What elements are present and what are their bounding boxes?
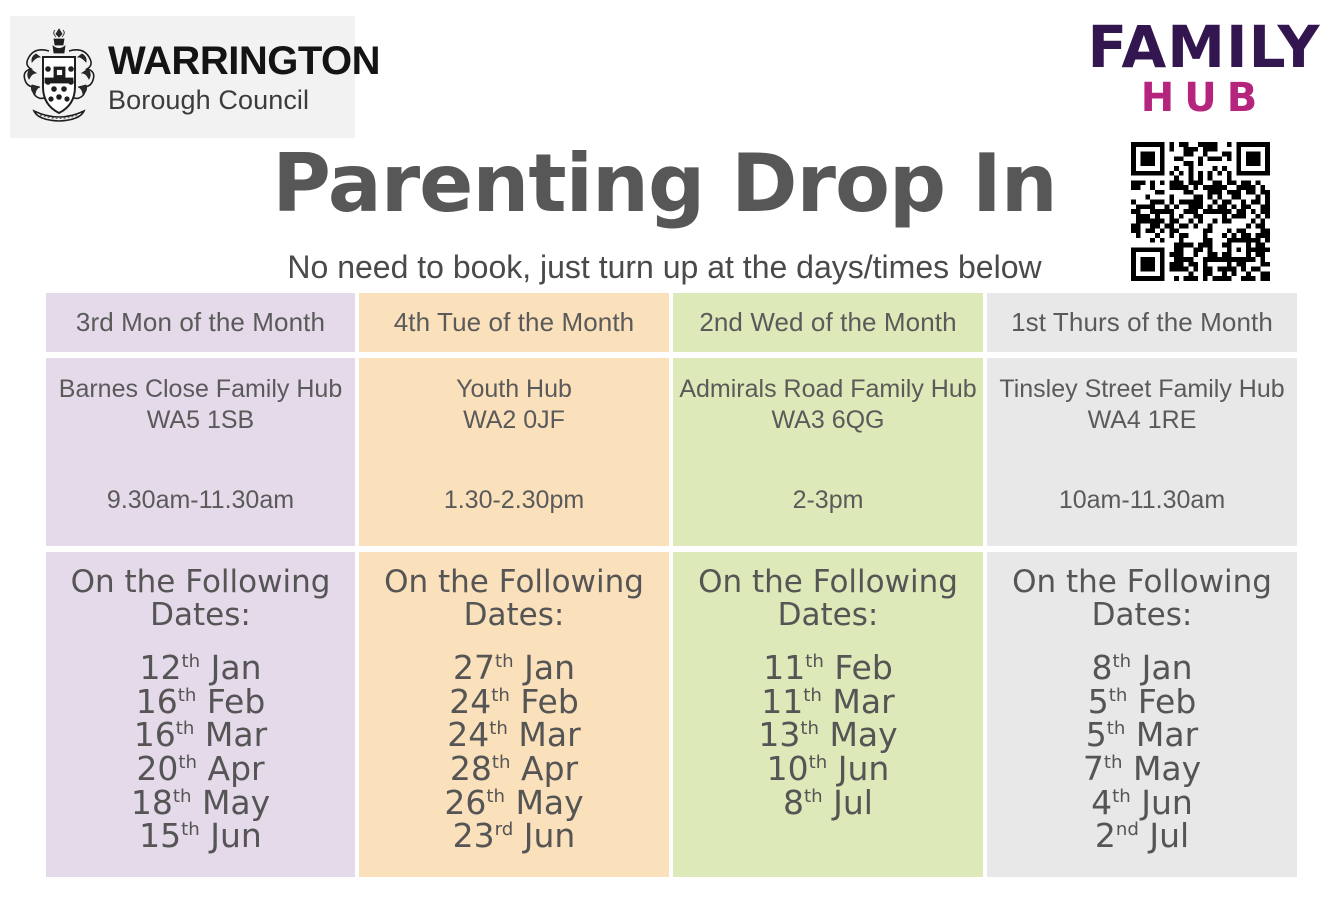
date-entry: 27th Jan [444,651,583,685]
date-entry: 11th Feb [758,651,897,685]
venue-postcode: WA5 1SB [147,405,254,436]
date-day: 2 [1095,816,1116,855]
venue-cell: Tinsley Street Family HubWA4 1RE10am-11.… [987,358,1297,546]
date-month: Jul [1139,816,1189,855]
venue-name: Barnes Close Family Hub [59,374,342,405]
column-header-label: 4th Tue of the Month [394,307,635,338]
council-name: WARRINGTON [108,41,380,81]
date-ordinal-suffix: th [1104,752,1123,773]
date-entry: 18th May [131,786,270,820]
column-header: 3rd Mon of the Month [46,293,355,352]
venue-cell: Barnes Close Family HubWA5 1SB9.30am-11.… [46,358,355,546]
date-ordinal-suffix: th [178,685,197,706]
date-month: Jun [200,816,262,855]
date-ordinal-suffix: th [486,786,505,807]
date-ordinal-suffix: th [1107,718,1126,739]
dates-heading: On the Following Dates: [987,566,1297,633]
date-ordinal-suffix: th [804,786,823,807]
date-entry: 11th Mar [758,685,897,719]
venue-cell: Youth HubWA2 0JF1.30-2.30pm [359,358,669,546]
date-ordinal-suffix: th [178,752,197,773]
dates-cell: On the Following Dates:11th Feb11th Mar1… [673,552,983,877]
venue-postcode: WA4 1RE [1088,405,1197,436]
date-month: Jul [823,783,873,822]
date-entry: 7th May [1083,752,1201,786]
dates-heading: On the Following Dates: [359,566,669,633]
date-ordinal-suffix: th [495,651,514,672]
date-day: 23 [453,816,495,855]
column-header: 2nd Wed of the Month [673,293,983,352]
date-entry: 8th Jan [1083,651,1201,685]
council-logo: WARRINGTON Borough Council [10,16,355,138]
dates-list: 27th Jan24th Feb24th Mar28th Apr26th May… [444,651,583,853]
column-header: 1st Thurs of the Month [987,293,1297,352]
date-day: 15 [139,816,181,855]
date-entry: 24th Mar [444,718,583,752]
date-entry: 24th Feb [444,685,583,719]
date-entry: 16th Mar [131,718,270,752]
dates-cell: On the Following Dates:27th Jan24th Feb2… [359,552,669,877]
session-time: 10am-11.30am [1059,485,1225,516]
date-ordinal-suffix: th [800,718,819,739]
family-hub-family-text: FAMILY [1087,13,1320,81]
date-entry: 26th May [444,786,583,820]
date-entry: 4th Jun [1083,786,1201,820]
date-ordinal-suffix: rd [495,819,514,840]
schedule-table: 3rd Mon of the Month4th Tue of the Month… [46,293,1289,877]
date-entry: 8th Jul [758,786,897,820]
date-ordinal-suffix: nd [1116,819,1139,840]
date-ordinal-suffix: th [492,752,511,773]
session-time: 2-3pm [793,485,864,516]
date-entry: 15th Jun [131,819,270,853]
venue-cell: Admirals Road Family HubWA3 6QG2-3pm [673,358,983,546]
date-entry: 5th Mar [1083,718,1201,752]
date-ordinal-suffix: th [1112,786,1131,807]
dates-list: 12th Jan16th Feb16th Mar20th Apr18th May… [131,651,270,853]
family-hub-logo: FAMILY HUB [1085,18,1323,128]
venue-postcode: WA3 6QG [772,405,885,436]
date-entry: 13th May [758,718,897,752]
date-ordinal-suffix: th [176,718,195,739]
date-entry: 5th Feb [1083,685,1201,719]
dates-heading: On the Following Dates: [46,566,355,633]
venue-name: Youth Hub [456,374,572,405]
column-header-label: 1st Thurs of the Month [1011,307,1273,338]
column-header-label: 2nd Wed of the Month [699,307,956,338]
date-ordinal-suffix: th [1109,685,1128,706]
page-subtitle: No need to book, just turn up at the day… [0,248,1329,286]
date-ordinal-suffix: th [1113,651,1132,672]
date-entry: 2nd Jul [1083,819,1201,853]
date-entry: 23rd Jun [444,819,583,853]
date-month: Jun [513,816,575,855]
date-entry: 10th Jun [758,752,897,786]
dates-heading: On the Following Dates: [673,566,983,633]
column-header-label: 3rd Mon of the Month [76,307,325,338]
venue-name: Tinsley Street Family Hub [999,374,1284,405]
date-ordinal-suffix: th [489,718,508,739]
dates-cell: On the Following Dates:8th Jan5th Feb5th… [987,552,1297,877]
date-ordinal-suffix: th [181,819,200,840]
column-header: 4th Tue of the Month [359,293,669,352]
venue-postcode: WA2 0JF [463,405,565,436]
page-title: Parenting Drop In [0,144,1329,224]
council-subtitle: Borough Council [108,87,380,114]
dates-list: 8th Jan5th Feb5th Mar7th May4th Jun2nd J… [1083,651,1201,853]
family-hub-wordmark-hub: HUB [1085,78,1323,118]
date-ordinal-suffix: th [182,651,201,672]
date-ordinal-suffix: th [173,786,192,807]
council-wordmark: WARRINGTON Borough Council [108,41,380,114]
family-hub-wordmark-family: FAMILY [1085,18,1323,76]
date-entry: 28th Apr [444,752,583,786]
date-ordinal-suffix: th [805,651,824,672]
date-entry: 20th Apr [131,752,270,786]
date-entry: 16th Feb [131,685,270,719]
session-time: 9.30am-11.30am [107,485,294,516]
dates-list: 11th Feb11th Mar13th May10th Jun8th Jul [758,651,897,819]
session-time: 1.30-2.30pm [444,485,584,516]
date-ordinal-suffix: th [491,685,510,706]
venue-name: Admirals Road Family Hub [679,374,976,405]
family-hub-hub-text: HUB [1141,75,1267,121]
date-day: 8 [783,783,804,822]
dates-cell: On the Following Dates:12th Jan16th Feb1… [46,552,355,877]
date-ordinal-suffix: th [803,685,822,706]
coat-of-arms-icon [16,27,102,127]
date-entry: 12th Jan [131,651,270,685]
date-ordinal-suffix: th [809,752,828,773]
